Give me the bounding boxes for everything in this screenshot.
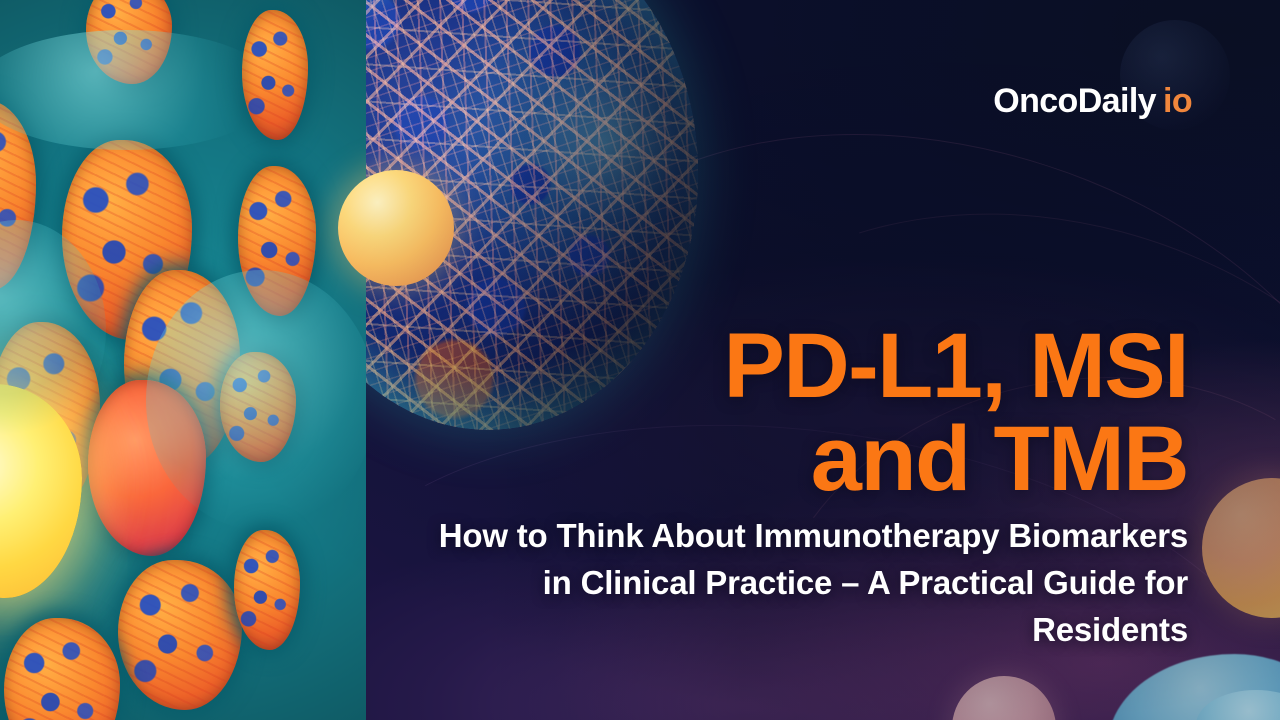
brand-logo[interactable]: OncoDailyio — [993, 84, 1192, 118]
article-cover: OncoDailyio PD-L1, MSI and TMB How to Th… — [0, 0, 1280, 720]
cover-content: OncoDailyio PD-L1, MSI and TMB How to Th… — [0, 0, 1280, 720]
brand-name: OncoDaily — [993, 82, 1156, 120]
page-title: PD-L1, MSI and TMB — [528, 320, 1188, 508]
page-subtitle: How to Think About Immunotherapy Biomark… — [426, 513, 1188, 654]
title-line-1: PD-L1, MSI — [528, 320, 1188, 414]
subtitle-line-1: How to Think About Immunotherapy — [439, 517, 1000, 554]
brand-tld-label: io — [1163, 82, 1192, 120]
subtitle-line-3: Practical Guide for Residents — [898, 564, 1188, 648]
title-line-2: and TMB — [528, 413, 1188, 507]
